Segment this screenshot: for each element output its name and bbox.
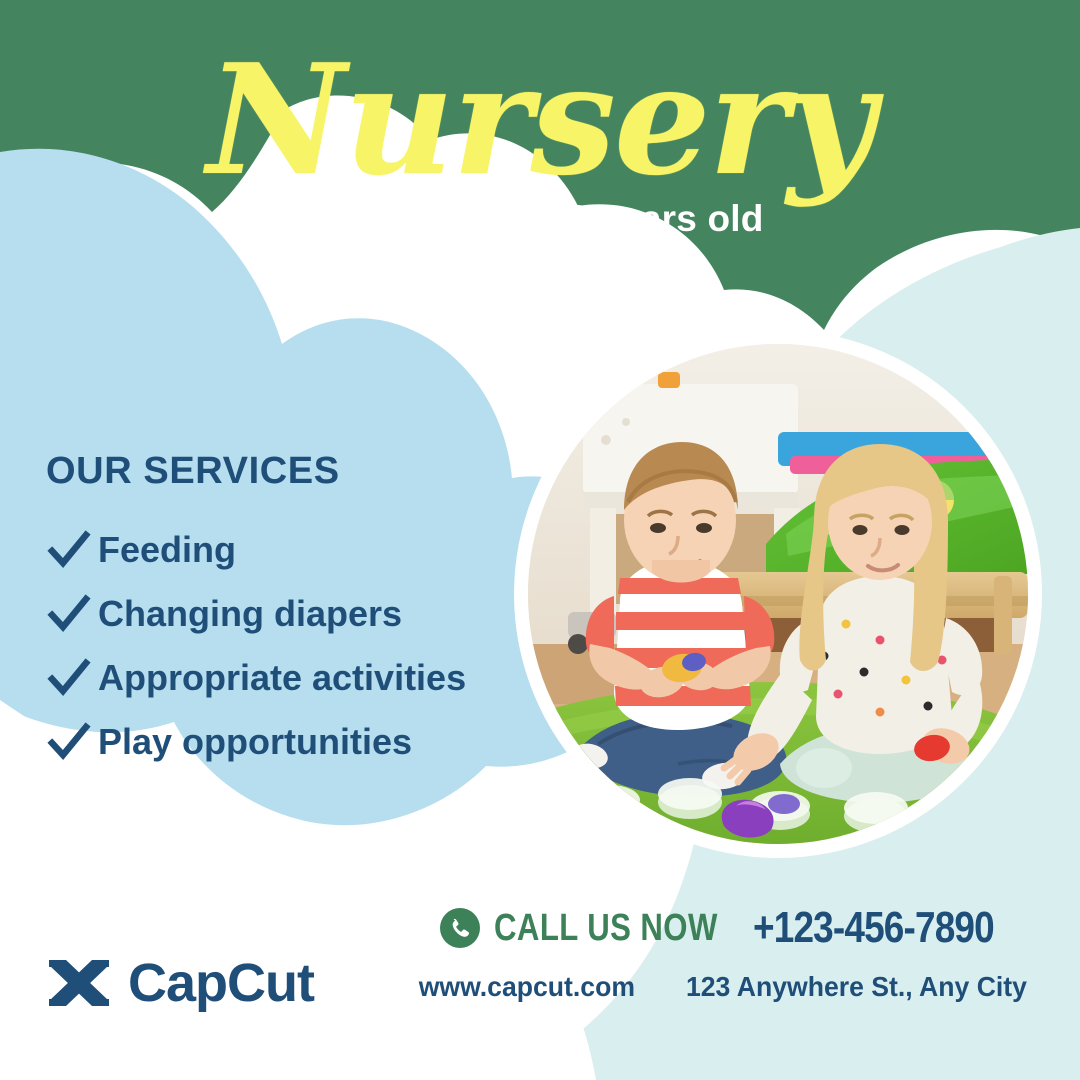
capcut-wordmark: CapCut (128, 952, 314, 1014)
contact-meta-row: www.capcut.com 123 Anywhere St., Any Cit… (480, 971, 1040, 1003)
poster-canvas: Nursery The ages of 0-3 years old OUR SE… (0, 0, 1080, 1080)
nursery-photo (528, 344, 1028, 844)
service-item-changing-diapers: Changing diapers (46, 591, 566, 637)
photo-circle-frame (514, 330, 1042, 858)
service-item-label: Changing diapers (98, 593, 402, 635)
phone-icon (440, 908, 480, 948)
call-us-label: CALL US NOW (494, 907, 718, 950)
capcut-logo[interactable]: CapCut (46, 952, 314, 1014)
service-item-feeding: Feeding (46, 527, 566, 573)
address-text: 123 Anywhere St., Any City (686, 971, 1027, 1003)
check-icon (46, 527, 92, 573)
check-icon (46, 719, 92, 765)
call-us-row[interactable]: CALL US NOW +123-456-7890 (480, 903, 1040, 953)
services-heading: OUR SERVICES (46, 450, 566, 493)
service-item-play-opportunities: Play opportunities (46, 719, 566, 765)
contact-block: CALL US NOW +123-456-7890 www.capcut.com… (480, 903, 1040, 1003)
check-icon (46, 591, 92, 637)
check-icon (46, 655, 92, 701)
phone-number[interactable]: +123-456-7890 (753, 903, 994, 953)
website-link[interactable]: www.capcut.com (419, 971, 635, 1003)
services-section: OUR SERVICES Feeding Changing diapers (46, 450, 566, 783)
service-item-label: Play opportunities (98, 721, 412, 763)
service-item-label: Feeding (98, 529, 236, 571)
capcut-logo-icon (46, 957, 112, 1009)
service-item-appropriate-activities: Appropriate activities (46, 655, 566, 701)
service-item-label: Appropriate activities (98, 657, 466, 699)
